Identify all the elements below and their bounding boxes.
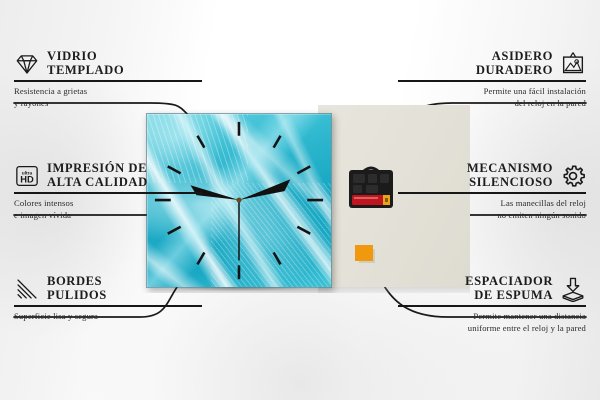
feature-title-line1: ESPACIADOR xyxy=(465,275,553,289)
clock-mechanism xyxy=(345,165,397,211)
infographic-canvas: VIDRIO TEMPLADO Resistencia a grietas y … xyxy=(0,0,600,400)
feature-rule xyxy=(398,305,586,307)
feature-title-line1: BORDES xyxy=(47,275,107,289)
feature-description: Superficie lisa y segura xyxy=(14,311,202,323)
feature-asidero-duradero[interactable]: ASIDERO DURADERO Permite una fácil insta… xyxy=(398,50,586,110)
feature-description: Las manecillas del reloj no emiten ningú… xyxy=(398,198,586,222)
feature-title-line2: DURADERO xyxy=(476,64,553,78)
desc-line1: Superficie lisa y segura xyxy=(14,311,202,323)
ultra-hd-icon: ultra HD xyxy=(14,163,40,189)
desc-line1: Permite una fácil instalación xyxy=(398,86,586,98)
diamond-icon xyxy=(14,51,40,77)
feature-description: Permite mantener una distancia uniforme … xyxy=(398,311,586,335)
desc-line2: del reloj en la pared xyxy=(398,98,586,110)
feature-title-line2: SILENCIOSO xyxy=(467,176,553,190)
feature-description: Colores intensos e imagen vívida xyxy=(14,198,202,222)
desc-line2: y rayones xyxy=(14,98,202,110)
feature-impresion-alta-calidad[interactable]: ultra HD IMPRESIÓN DE ALTA CALIDAD Color… xyxy=(14,162,202,222)
feature-rule xyxy=(14,80,202,82)
feature-description: Resistencia a grietas y rayones xyxy=(14,86,202,110)
feature-rule xyxy=(398,192,586,194)
desc-line1: Resistencia a grietas xyxy=(14,86,202,98)
desc-line1: Las manecillas del reloj xyxy=(398,198,586,210)
desc-line1: Permite mantener una distancia xyxy=(398,311,586,323)
desc-line2: e imagen vívida xyxy=(14,210,202,222)
desc-line2: no emiten ningún sonido xyxy=(398,210,586,222)
picture-frame-hook-icon xyxy=(560,51,586,77)
feature-rule xyxy=(14,305,202,307)
ultra-hd-main-label: HD xyxy=(20,174,34,184)
clock-hands xyxy=(191,179,291,260)
foam-spacer xyxy=(355,245,373,261)
press-down-pad-icon xyxy=(560,276,586,302)
gear-icon xyxy=(560,163,586,189)
desc-line1: Colores intensos xyxy=(14,198,202,210)
feature-bordes-pulidos[interactable]: BORDES PULIDOS Superficie lisa y segura xyxy=(14,275,202,323)
polished-edges-icon xyxy=(14,276,40,302)
feature-title-line2: PULIDOS xyxy=(47,289,107,303)
feature-title-line1: IMPRESIÓN DE xyxy=(47,162,148,176)
feature-espaciador-de-espuma[interactable]: ESPACIADOR DE ESPUMA Permite mantener un… xyxy=(398,275,586,335)
desc-line2: uniforme entre el reloj y la pared xyxy=(398,323,586,335)
feature-rule xyxy=(14,192,202,194)
feature-title-line2: DE ESPUMA xyxy=(465,289,553,303)
feature-title-line1: MECANISMO xyxy=(467,162,553,176)
feature-description: Permite una fácil instalación del reloj … xyxy=(398,86,586,110)
feature-title-line2: ALTA CALIDAD xyxy=(47,176,148,190)
feature-vidrio-templado[interactable]: VIDRIO TEMPLADO Resistencia a grietas y … xyxy=(14,50,202,110)
feature-title-line1: VIDRIO xyxy=(47,50,124,64)
feature-title-line2: TEMPLADO xyxy=(47,64,124,78)
feature-title-line1: ASIDERO xyxy=(476,50,553,64)
feature-rule xyxy=(398,80,586,82)
feature-mecanismo-silencioso[interactable]: MECANISMO SILENCIOSO Las manecillas del … xyxy=(398,162,586,222)
